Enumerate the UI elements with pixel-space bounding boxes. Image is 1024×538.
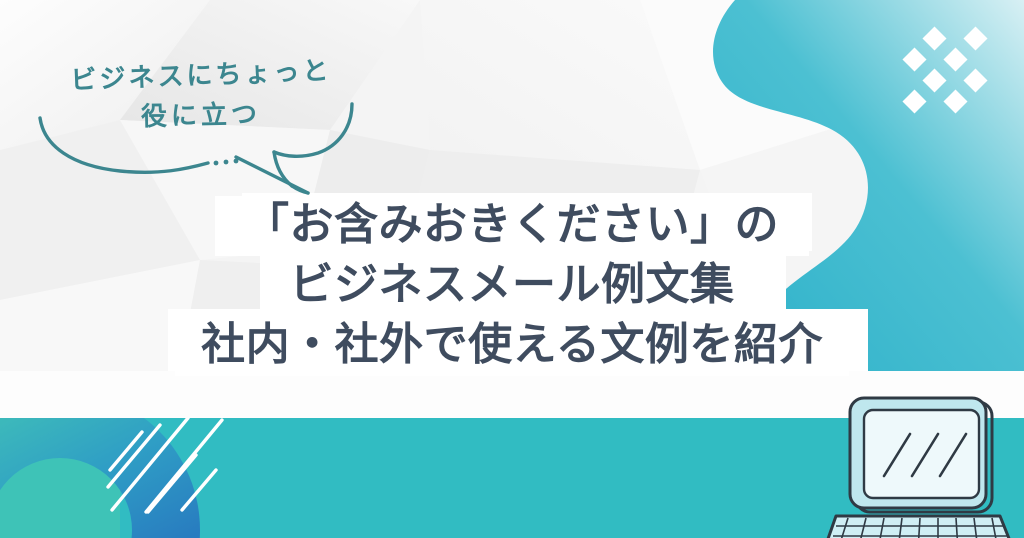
banner-canvas: ビジネスにちょっと 役に立つ 「お含みおきください」の ビジネスメール例文集 社… <box>0 0 1024 538</box>
laptop-screen <box>864 410 979 498</box>
laptop-illustration <box>0 0 1024 538</box>
